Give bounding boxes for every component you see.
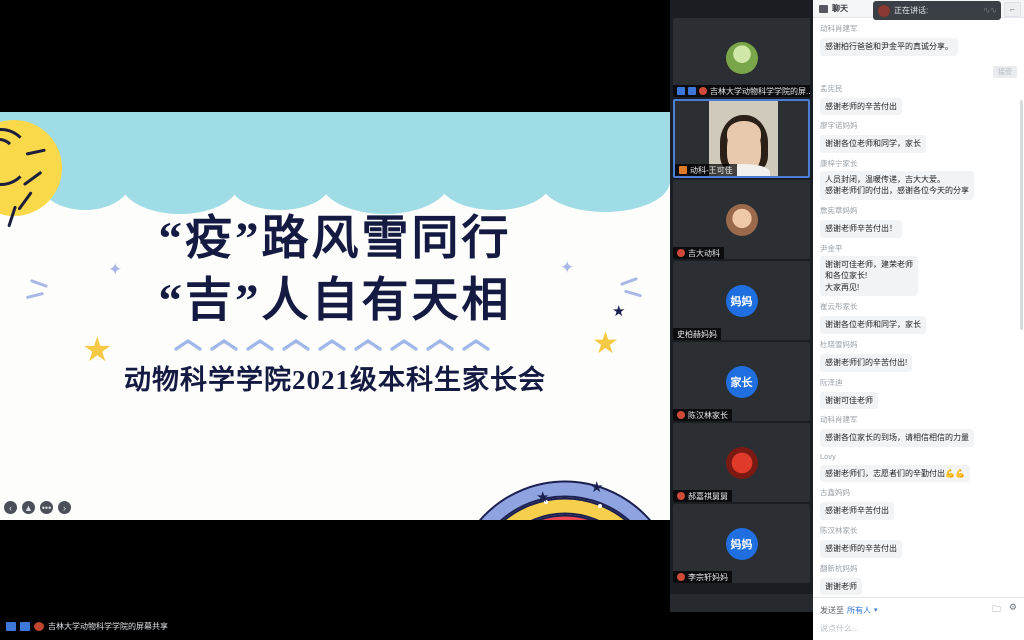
chat-tab-label[interactable]: 聊天 (832, 3, 848, 14)
chat-bubble: 感谢老师们的辛苦付出! (820, 354, 912, 372)
chat-sender: 康梓宁家长 (820, 158, 1017, 169)
participant-name: 吉林大学动物科学学院的屏... (710, 86, 810, 97)
taskbar[interactable]: 吉林大学动物科学学院的屏幕共享 (0, 612, 813, 640)
system-badge: 接受 (820, 61, 1017, 79)
slide-title-line1: “疫”路风雪同行 (0, 208, 670, 270)
chat-sender: 尹金平 (820, 243, 1017, 254)
chat-sender: 翻新杭妈妈 (820, 563, 1017, 574)
chat-message: 尹金平谢谢可佳老师，建荣老师 和各位家长! 大家再见! (820, 243, 1017, 297)
shared-screen-area: ✦ ✦ ★ ★ ★ “疫”路风雪同行 “吉”人自有天相 动物科学学院2021级本… (0, 0, 670, 612)
send-to-target[interactable]: 所有人 (847, 605, 871, 616)
chat-message: 廖宇诺妈妈谢谢各位老师和同学，家长 (820, 120, 1017, 153)
mic-red-icon (677, 249, 685, 257)
svg-text:★: ★ (590, 479, 603, 496)
slide-title-line2: “吉”人自有天相 (0, 270, 670, 332)
chat-message: 詹宪章妈妈感谢老师辛苦付出！ (820, 205, 1017, 238)
chat-bubble: 谢谢可佳老师，建荣老师 和各位家长! 大家再见! (820, 256, 918, 297)
presentation-slide[interactable]: ✦ ✦ ★ ★ ★ “疫”路风雪同行 “吉”人自有天相 动物科学学院2021级本… (0, 112, 670, 520)
participant-label: 动科-王可佳 (675, 164, 737, 176)
mic-red-icon (677, 573, 685, 581)
mic-on-icon (679, 166, 687, 174)
chat-icon (819, 5, 828, 13)
svg-text:★: ★ (536, 489, 549, 506)
chat-bubble: 谢谢各位老师和同学，家长 (820, 135, 926, 153)
meeting-window: ✦ ✦ ★ ★ ★ “疫”路风雪同行 “吉”人自有天相 动物科学学院2021级本… (0, 0, 1024, 640)
chat-sender: 动科肖建军 (820, 23, 1017, 34)
mic-icon (34, 622, 44, 631)
speaker-avatar (878, 5, 890, 17)
slide-more-button[interactable]: ••• (40, 501, 53, 514)
slide-toolbar[interactable]: ‹ ▲ ••• › (4, 501, 71, 514)
avatar: 妈妈 (726, 528, 758, 560)
chat-bubble: 感谢老师辛苦付出！ (820, 220, 902, 238)
participant-label: 李宗轩妈妈 (673, 571, 732, 583)
participant-label: 吉大动科 (673, 247, 724, 259)
chat-message: 陈汉林家长感谢老师的辛苦付出 (820, 525, 1017, 558)
chat-sender: 孟宪民 (820, 83, 1017, 94)
chat-message-list[interactable]: 动科肖建军感谢柏行爸爸和尹金平的真诚分享。接受孟宪民感谢老师的辛苦付出廖宇诺妈妈… (813, 18, 1024, 597)
chat-sender: 陈汉林家长 (820, 525, 1017, 536)
chat-composer[interactable]: 发送至 所有人 ▾ 🗀 ⚙ 说点什么... (813, 597, 1024, 640)
participant-label: 陈汉林家长 (673, 409, 732, 421)
active-speaker-overlay: 正在讲话: ∿∿ (873, 1, 1001, 20)
chat-sender: 动科肖建军 (820, 414, 1017, 425)
participant-name: 动科-王可佳 (690, 165, 733, 176)
chat-bubble: 谢谢老师 (820, 578, 862, 596)
audio-wave-icon: ∿∿ (983, 5, 996, 16)
chat-message: 崔云彤家长谢谢各位老师和同学，家长 (820, 301, 1017, 334)
person-icon (677, 87, 685, 95)
mic-red-icon (677, 492, 685, 500)
participant-name: 郝嘉祺舅舅 (688, 491, 728, 502)
rainbow-decoration: ★ ★ (450, 444, 670, 520)
slide-prev-button[interactable]: ‹ (4, 501, 17, 514)
chat-input[interactable]: 说点什么... (820, 623, 1017, 634)
screen-share-icon (20, 622, 30, 631)
wavy-divider (170, 338, 500, 352)
participant-name: 吉大动科 (688, 248, 720, 259)
chat-message: 孟宪民感谢老师的辛苦付出 (820, 83, 1017, 116)
participant-tile[interactable]: 吉林大学动物科学学院的屏... (673, 18, 810, 97)
chat-bubble: 人员封闭，温暖传递，吉大大爱。 感谢老师们的付出，感谢各位今天的分享 (820, 171, 974, 200)
chat-sender: 廖宇诺妈妈 (820, 120, 1017, 131)
chat-bubble: 感谢老师们，志愿者们的辛勤付出💪💪 (820, 465, 970, 483)
chat-message: 翻新杭妈妈谢谢老师 (820, 563, 1017, 596)
screen-icon (688, 87, 696, 95)
chat-message: 阮泽迪谢谢可佳老师 (820, 377, 1017, 410)
chat-minimize-button[interactable]: ⌐ (1004, 2, 1021, 17)
participant-tile[interactable]: 动科-王可佳 (673, 99, 810, 178)
chat-message: 杜晓雪妈妈感谢老师们的辛苦付出! (820, 339, 1017, 372)
participant-tile[interactable]: 妈妈史柏赫妈妈 (673, 261, 810, 340)
chat-bubble: 谢谢各位老师和同学，家长 (820, 316, 926, 334)
avatar: 家长 (726, 366, 758, 398)
participant-tile[interactable]: 家长陈汉林家长 (673, 342, 810, 421)
chat-message: 古鑫妈妈感谢老师辛苦付出 (820, 487, 1017, 520)
participant-name: 陈汉林家长 (688, 410, 728, 421)
avatar (726, 447, 758, 479)
taskbar-share-item[interactable]: 吉林大学动物科学学院的屏幕共享 (0, 616, 174, 636)
avatar (726, 204, 758, 236)
speaker-label: 正在讲话: (894, 5, 928, 16)
participant-name: 李宗轩妈妈 (688, 572, 728, 583)
chat-bubble: 感谢老师的辛苦付出 (820, 98, 902, 116)
avatar: 妈妈 (726, 285, 758, 317)
cloud-band-decoration (0, 112, 670, 184)
participant-label: 郝嘉祺舅舅 (673, 490, 732, 502)
mic-red-icon (677, 411, 685, 419)
chat-sender: 古鑫妈妈 (820, 487, 1017, 498)
chat-sender: 崔云彤家长 (820, 301, 1017, 312)
chat-message: 康梓宁家长人员封闭，温暖传递，吉大大爱。 感谢老师们的付出，感谢各位今天的分享 (820, 158, 1017, 200)
mic-red-icon (699, 87, 707, 95)
send-to-label: 发送至 (820, 605, 844, 616)
gear-icon[interactable]: ⚙ (1009, 602, 1017, 618)
slide-title-block: “疫”路风雪同行 “吉”人自有天相 动物科学学院2021级本科生家长会 (0, 208, 670, 397)
chat-sender: Lovy (820, 452, 1017, 461)
participant-tile[interactable]: 妈妈李宗轩妈妈 (673, 504, 810, 583)
chat-sender: 詹宪章妈妈 (820, 205, 1017, 216)
chat-bubble: 感谢各位家长的到场，请相信相信的力量 (820, 429, 974, 447)
person-icon (6, 622, 16, 631)
chat-sender: 杜晓雪妈妈 (820, 339, 1017, 350)
participant-label: 吉林大学动物科学学院的屏... (673, 85, 810, 97)
chat-bubble: 感谢老师辛苦付出 (820, 502, 894, 520)
participant-name: 史柏赫妈妈 (677, 329, 717, 340)
slide-subtitle: 动物科学学院2021级本科生家长会 (0, 358, 670, 397)
filmstrip-footer (670, 594, 813, 612)
slide-pen-button[interactable]: ▲ (22, 501, 35, 514)
chat-panel[interactable]: 聊天 正在讲话: ∿∿ ⌐ 动科肖建军感谢柏行爸爸和尹金平的真诚分享。接受孟宪民… (813, 0, 1024, 640)
avatar (726, 42, 758, 74)
participant-tile[interactable]: 郝嘉祺舅舅 (673, 423, 810, 502)
chat-bubble: 感谢老师的辛苦付出 (820, 540, 902, 558)
chat-scrollbar[interactable] (1020, 100, 1023, 330)
sun-decoration (0, 120, 62, 216)
participant-filmstrip[interactable]: 吉林大学动物科学学院的屏...动科-王可佳吉大动科妈妈史柏赫妈妈家长陈汉林家长郝… (670, 0, 813, 612)
slide-next-button[interactable]: › (58, 501, 71, 514)
chat-message: 动科肖建军感谢柏行爸爸和尹金平的真诚分享。 (820, 23, 1017, 56)
chat-message: Lovy感谢老师们，志愿者们的辛勤付出💪💪 (820, 452, 1017, 483)
chat-bubble: 感谢柏行爸爸和尹金平的真诚分享。 (820, 38, 958, 56)
chat-message: 动科肖建军感谢各位家长的到场，请相信相信的力量 (820, 414, 1017, 447)
chat-sender: 阮泽迪 (820, 377, 1017, 388)
system-badge-text: 接受 (993, 66, 1017, 78)
chevron-down-icon[interactable]: ▾ (874, 606, 878, 614)
taskbar-label: 吉林大学动物科学学院的屏幕共享 (48, 621, 168, 632)
participant-tile[interactable]: 吉大动科 (673, 180, 810, 259)
file-attach-icon[interactable]: 🗀 (992, 602, 1001, 618)
participant-label: 史柏赫妈妈 (673, 328, 721, 340)
chat-bubble: 谢谢可佳老师 (820, 392, 878, 410)
